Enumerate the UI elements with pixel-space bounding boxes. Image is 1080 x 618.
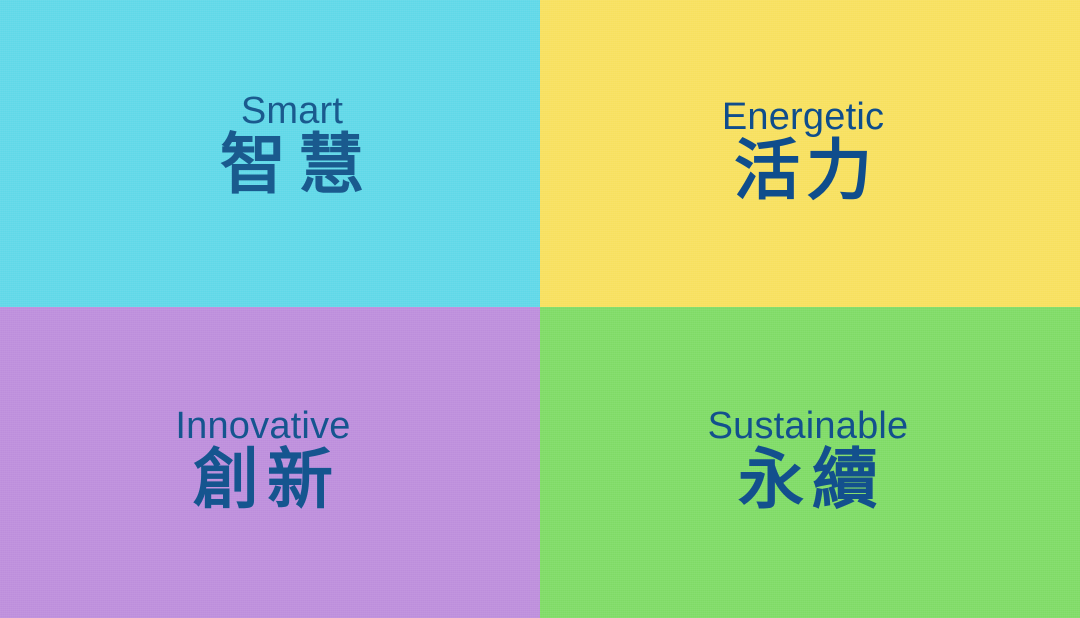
quadrant-energetic[interactable]: Energetic 活力 xyxy=(540,0,1080,307)
quadrant-smart-label-en: Smart xyxy=(241,92,343,130)
quadrant-innovative-content: Innovative 創新 xyxy=(175,407,350,514)
quadrant-smart[interactable]: Smart 智慧 xyxy=(0,0,540,307)
quadrant-smart-content: Smart 智慧 xyxy=(208,92,376,199)
quadrant-sustainable[interactable]: Sustainable 永續 xyxy=(540,307,1080,618)
brand-values-board: Smart 智慧 Energetic 活力 Innovative 創新 Sust… xyxy=(0,0,1080,618)
quadrant-innovative-label-en: Innovative xyxy=(175,407,350,445)
quadrant-energetic-label-en: Energetic xyxy=(722,98,884,136)
quadrant-sustainable-label-zh: 永續 xyxy=(738,445,886,514)
quadrant-sustainable-content: Sustainable 永續 xyxy=(708,407,909,514)
quadrant-innovative-label-zh: 創新 xyxy=(193,445,341,514)
quadrant-smart-label-zh: 智慧 xyxy=(220,130,376,199)
quadrant-energetic-content: Energetic 活力 xyxy=(722,98,884,205)
quadrant-energetic-label-zh: 活力 xyxy=(734,136,878,205)
quadrant-sustainable-label-en: Sustainable xyxy=(708,407,909,445)
quadrant-innovative[interactable]: Innovative 創新 xyxy=(0,307,540,618)
